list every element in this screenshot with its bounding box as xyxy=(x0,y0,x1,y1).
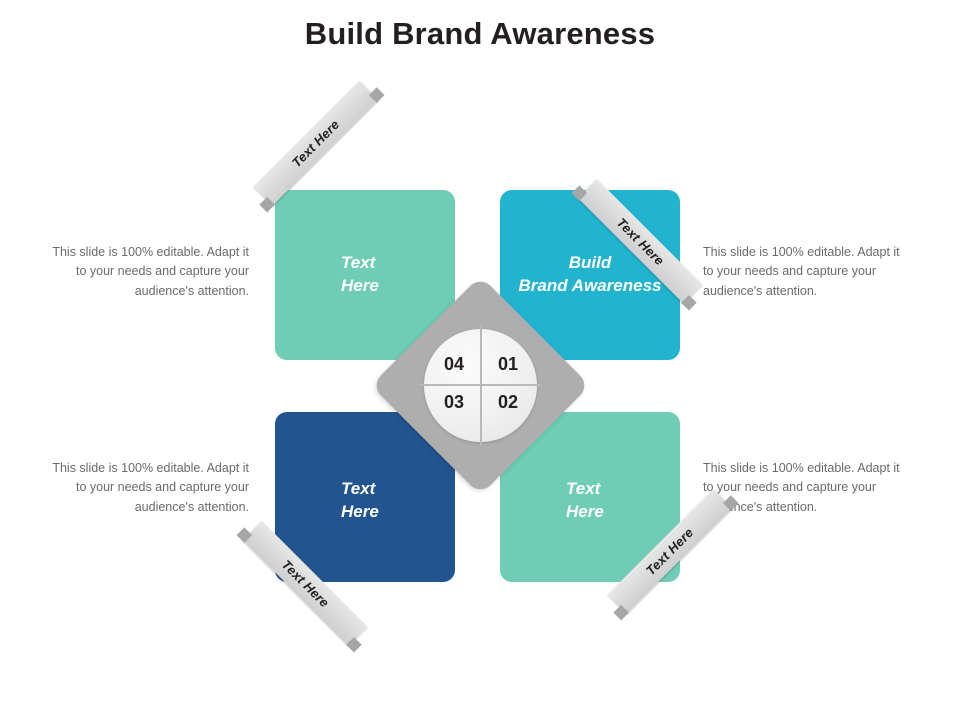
description-bottom-right: This slide is 100% editable. Adapt it to… xyxy=(703,459,908,517)
hub-number-02: 02 xyxy=(486,392,530,413)
card-top-left-label: Text Here xyxy=(341,252,379,297)
hub-number-04: 04 xyxy=(432,354,476,375)
description-top-left: This slide is 100% editable. Adapt it to… xyxy=(44,243,249,301)
hub-number-01: 01 xyxy=(486,354,530,375)
slide-canvas: Build Brand Awareness Text Here Text Her… xyxy=(0,0,960,720)
card-bottom-right-label: Text Here xyxy=(566,478,604,523)
hub-number-03: 03 xyxy=(432,392,476,413)
description-bottom-left: This slide is 100% editable. Adapt it to… xyxy=(44,459,249,517)
card-bottom-left-label: Text Here xyxy=(341,478,379,523)
diagram-stage: Text Here Text Here Build Brand Awarenes… xyxy=(0,0,960,720)
ribbon-top-left-label: Text Here xyxy=(289,117,342,170)
description-top-right: This slide is 100% editable. Adapt it to… xyxy=(703,243,908,301)
ribbon-top-left[interactable]: Text Here xyxy=(253,81,378,206)
hub-horizontal-divider xyxy=(420,384,541,386)
